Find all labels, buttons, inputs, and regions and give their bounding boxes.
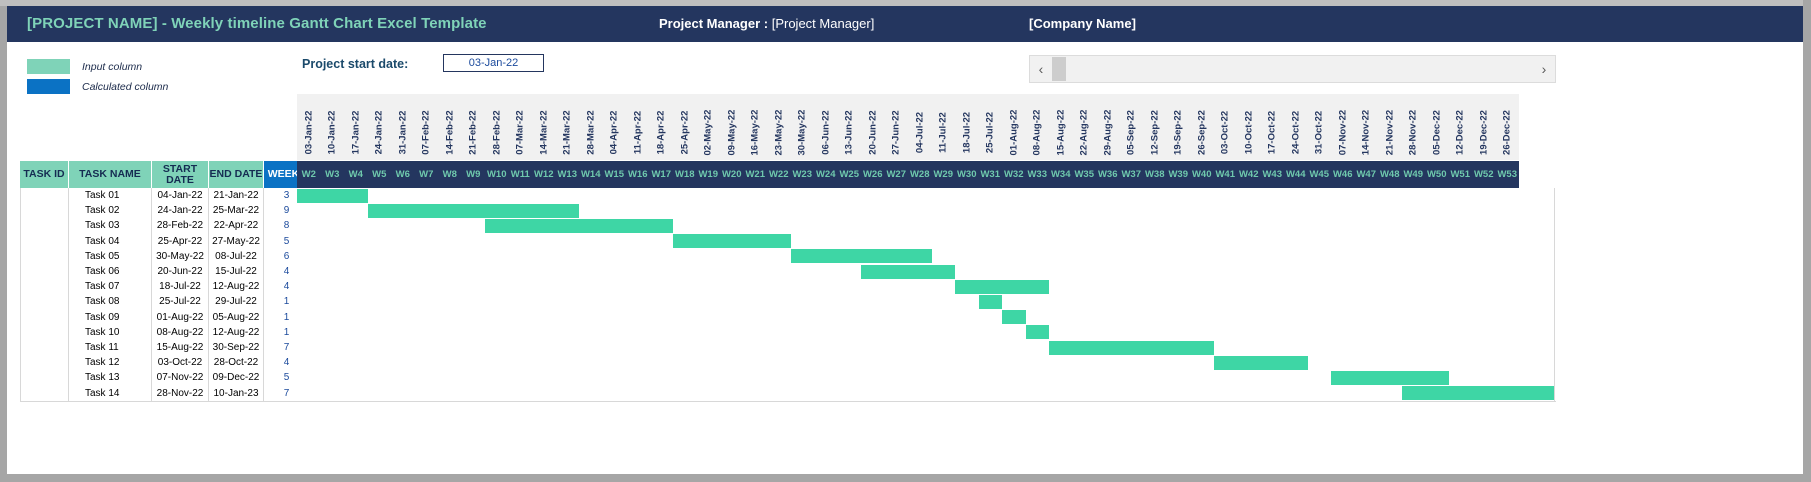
sheet-bottom-strip — [7, 449, 1803, 474]
cell-start-date[interactable]: 04-Jan-22 — [152, 188, 209, 203]
cell-end-date[interactable]: 22-Apr-22 — [209, 218, 264, 233]
scroll-right-icon[interactable]: › — [1533, 56, 1555, 82]
timeline-date-label: 28-Feb-22 — [491, 109, 502, 157]
timeline-week-header-cell[interactable]: W2 — [297, 161, 321, 188]
cell-task-name[interactable]: Task 06 — [69, 264, 152, 279]
timeline-week-header-cell[interactable]: W6 — [391, 161, 415, 188]
timeline-date-cell: 18-Jul-22 — [955, 94, 979, 160]
window-frame-right — [1803, 0, 1811, 482]
table-row[interactable]: Task 1307-Nov-2209-Dec-225 — [20, 370, 310, 385]
timeline-week-header-cell[interactable]: W14 — [579, 161, 603, 188]
timeline-week-header-cell[interactable]: W8 — [438, 161, 462, 188]
timeline-date-label: 07-Feb-22 — [421, 109, 432, 157]
timeline-date-label: 04-Apr-22 — [609, 109, 620, 157]
timeline-week-header-cell[interactable]: W30 — [955, 161, 979, 188]
timeline-week-header-cell[interactable]: W33 — [1026, 161, 1050, 188]
cell-task-name[interactable]: Task 12 — [69, 355, 152, 370]
timeline-date-cell: 24-Oct-22 — [1284, 94, 1308, 160]
gantt-bar — [1214, 356, 1308, 370]
timeline-date-label: 15-Aug-22 — [1055, 109, 1066, 157]
timeline-date-label: 05-Sep-22 — [1126, 109, 1137, 157]
timeline-date-cell: 27-Jun-22 — [885, 94, 909, 160]
timeline-date-cell: 06-Jun-22 — [814, 94, 838, 160]
cell-task-name[interactable]: Task 08 — [69, 294, 152, 309]
timeline-date-cell: 24-Jan-22 — [368, 94, 392, 160]
window-frame-left — [0, 0, 7, 482]
timeline-date-cell: 16-May-22 — [744, 94, 768, 160]
table-row[interactable]: Task 0825-Jul-2229-Jul-221 — [20, 294, 310, 309]
legend: Input column Calculated column — [27, 58, 168, 98]
timeline-date-label: 14-Nov-22 — [1361, 109, 1372, 157]
cell-task-name[interactable]: Task 09 — [69, 310, 152, 325]
gantt-bar — [297, 189, 368, 203]
timeline-date-cell: 03-Jan-22 — [297, 94, 321, 160]
timeline-date-cell: 14-Feb-22 — [438, 94, 462, 160]
timeline-date-cell: 17-Jan-22 — [344, 94, 368, 160]
legend-label-calculated: Calculated column — [82, 81, 168, 93]
cell-task-name[interactable]: Task 03 — [69, 218, 152, 233]
timeline-date-cell: 19-Dec-22 — [1472, 94, 1496, 160]
timeline-date-label: 23-May-22 — [773, 109, 784, 157]
cell-task-id[interactable] — [20, 370, 69, 385]
timeline-week-header-cell[interactable]: W39 — [1167, 161, 1191, 188]
timeline-date-label: 07-Mar-22 — [515, 109, 526, 157]
timeline-date-cell: 05-Sep-22 — [1120, 94, 1144, 160]
gantt-chart-app: [PROJECT NAME] - Weekly timeline Gantt C… — [0, 0, 1811, 482]
timeline-date-cell: 21-Feb-22 — [462, 94, 486, 160]
cell-end-date[interactable]: 12-Aug-22 — [209, 279, 264, 294]
timeline-date-cell: 23-May-22 — [767, 94, 791, 160]
timeline-date-cell: 04-Apr-22 — [603, 94, 627, 160]
cell-task-id[interactable] — [20, 203, 69, 218]
cell-task-name[interactable]: Task 11 — [69, 340, 152, 355]
timeline-date-cell: 14-Mar-22 — [532, 94, 556, 160]
gantt-bar — [955, 280, 1049, 294]
cell-end-date[interactable]: 15-Jul-22 — [209, 264, 264, 279]
timeline-date-label: 14-Mar-22 — [538, 109, 549, 157]
cell-start-date[interactable]: 20-Jun-22 — [152, 264, 209, 279]
cell-start-date[interactable]: 25-Apr-22 — [152, 234, 209, 249]
cell-task-id[interactable] — [20, 218, 69, 233]
timeline-date-label: 21-Feb-22 — [468, 109, 479, 157]
timeline-scrollbar[interactable]: ‹ › — [1029, 55, 1556, 83]
timeline-week-header-cell[interactable]: W22 — [767, 161, 791, 188]
timeline-week-header-cell[interactable]: W15 — [603, 161, 627, 188]
timeline-week-header-cell[interactable]: W42 — [1237, 161, 1261, 188]
timeline-week-header-cell[interactable]: W18 — [673, 161, 697, 188]
timeline-date-label: 03-Jan-22 — [303, 109, 314, 157]
cell-end-date[interactable]: 12-Aug-22 — [209, 325, 264, 340]
timeline-date-cell: 07-Mar-22 — [509, 94, 533, 160]
cell-start-date[interactable]: 15-Aug-22 — [152, 340, 209, 355]
timeline-date-label: 07-Nov-22 — [1337, 109, 1348, 157]
timeline-date-cell: 11-Jul-22 — [932, 94, 956, 160]
cell-task-id[interactable] — [20, 264, 69, 279]
cell-end-date[interactable]: 25-Mar-22 — [209, 203, 264, 218]
timeline-week-header-cell[interactable]: W28 — [908, 161, 932, 188]
timeline-date-label: 19-Sep-22 — [1173, 109, 1184, 157]
cell-end-date[interactable]: 21-Jan-22 — [209, 188, 264, 203]
company-name[interactable]: [Company Name] — [1029, 16, 1136, 31]
timeline-date-cell: 04-Jul-22 — [908, 94, 932, 160]
cell-task-id[interactable] — [20, 310, 69, 325]
timeline-date-label: 13-Jun-22 — [844, 109, 855, 157]
timeline-date-cell: 28-Feb-22 — [485, 94, 509, 160]
legend-label-input: Input column — [82, 61, 142, 73]
timeline-date-cell: 21-Mar-22 — [556, 94, 580, 160]
timeline-week-header-cell[interactable]: W37 — [1120, 161, 1144, 188]
timeline-date-label: 16-May-22 — [750, 109, 761, 157]
timeline-date-cell: 25-Apr-22 — [673, 94, 697, 160]
gantt-bar — [1402, 386, 1556, 400]
timeline-week-header-cell[interactable]: W19 — [697, 161, 721, 188]
timeline-date-label: 31-Oct-22 — [1314, 109, 1325, 157]
table-row[interactable]: Task 1008-Aug-2212-Aug-221 — [20, 325, 310, 340]
timeline-date-label: 29-Aug-22 — [1102, 109, 1113, 157]
cell-end-date[interactable]: 30-Sep-22 — [209, 340, 264, 355]
gantt-bar — [485, 219, 673, 233]
cell-start-date[interactable]: 28-Feb-22 — [152, 218, 209, 233]
timeline-date-cell: 28-Nov-22 — [1402, 94, 1426, 160]
timeline-date-label: 02-May-22 — [703, 109, 714, 157]
cell-task-name[interactable]: Task 14 — [69, 385, 152, 400]
timeline-date-label: 24-Oct-22 — [1290, 109, 1301, 157]
timeline-date-cell: 11-Apr-22 — [626, 94, 650, 160]
column-header-end-date[interactable]: END DATE — [209, 161, 264, 188]
gantt-bar — [1026, 325, 1050, 339]
timeline-date-label: 21-Mar-22 — [562, 109, 573, 157]
timeline-date-cell: 31-Jan-22 — [391, 94, 415, 160]
timeline-date-cell: 29-Aug-22 — [1096, 94, 1120, 160]
timeline-date-label: 12-Sep-22 — [1149, 109, 1160, 157]
timeline-week-header-cell[interactable]: W41 — [1214, 161, 1238, 188]
project-start-date-label: Project start date: — [302, 57, 408, 71]
timeline-date-cell: 02-May-22 — [697, 94, 721, 160]
timeline-date-label: 20-Jun-22 — [867, 109, 878, 157]
timeline-date-label: 28-Mar-22 — [585, 109, 596, 157]
timeline-date-label: 27-Jun-22 — [891, 109, 902, 157]
cell-task-id[interactable] — [20, 234, 69, 249]
timeline-week-header-cell[interactable]: W29 — [932, 161, 956, 188]
table-row[interactable]: Task 0901-Aug-2205-Aug-221 — [20, 310, 310, 325]
timeline-date-label: 12-Dec-22 — [1455, 109, 1466, 157]
cell-task-id[interactable] — [20, 279, 69, 294]
timeline-date-cell: 13-Jun-22 — [838, 94, 862, 160]
timeline-week-header-cell[interactable]: W20 — [720, 161, 744, 188]
cell-start-date[interactable]: 28-Nov-22 — [152, 385, 209, 400]
cell-end-date[interactable]: 28-Oct-22 — [209, 355, 264, 370]
title-bar: [PROJECT NAME] - Weekly timeline Gantt C… — [7, 6, 1803, 42]
cell-start-date[interactable]: 25-Jul-22 — [152, 294, 209, 309]
timeline-date-cell: 12-Sep-22 — [1143, 94, 1167, 160]
timeline-date-cell: 07-Nov-22 — [1331, 94, 1355, 160]
project-manager-label: Project Manager : — [659, 16, 768, 31]
gantt-bar — [368, 204, 580, 218]
cell-start-date[interactable]: 07-Nov-22 — [152, 370, 209, 385]
timeline-date-cell: 28-Mar-22 — [579, 94, 603, 160]
timeline-date-label: 19-Dec-22 — [1478, 109, 1489, 157]
timeline-week-header-cell[interactable]: W11 — [509, 161, 533, 188]
timeline-date-cell: 05-Dec-22 — [1425, 94, 1449, 160]
cell-end-date[interactable]: 09-Dec-22 — [209, 370, 264, 385]
table-bottom-border — [20, 401, 1556, 402]
cell-task-name[interactable]: Task 10 — [69, 325, 152, 340]
timeline-date-label: 30-May-22 — [797, 109, 808, 157]
cell-start-date[interactable]: 24-Jan-22 — [152, 203, 209, 218]
cell-start-date[interactable]: 03-Oct-22 — [152, 355, 209, 370]
cell-end-date[interactable]: 08-Jul-22 — [209, 249, 264, 264]
timeline-week-header-cell[interactable]: W13 — [556, 161, 580, 188]
timeline-week-header-cell[interactable]: W10 — [485, 161, 509, 188]
cell-task-id[interactable] — [20, 385, 69, 400]
timeline-date-cell: 18-Apr-22 — [650, 94, 674, 160]
timeline-date-label: 03-Oct-22 — [1220, 109, 1231, 157]
worksheet: [PROJECT NAME] - Weekly timeline Gantt C… — [7, 6, 1803, 474]
cell-task-name[interactable]: Task 13 — [69, 370, 152, 385]
column-header-task-id[interactable]: TASK ID — [20, 161, 69, 188]
gantt-bar — [791, 249, 932, 263]
timeline-date-label: 10-Jan-22 — [327, 109, 338, 157]
legend-swatch-calculated-icon — [27, 79, 70, 94]
table-row[interactable]: Task 0530-May-2208-Jul-226 — [20, 249, 310, 264]
gantt-bar — [861, 265, 955, 279]
gantt-plot-area — [297, 188, 1555, 401]
timeline-date-cell: 25-Jul-22 — [979, 94, 1003, 160]
timeline-date-cell: 20-Jun-22 — [861, 94, 885, 160]
timeline-date-cell: 12-Dec-22 — [1449, 94, 1473, 160]
timeline-week-header-cell[interactable]: W43 — [1261, 161, 1285, 188]
cell-task-name[interactable]: Task 05 — [69, 249, 152, 264]
timeline-week-header-cell[interactable]: W9 — [462, 161, 486, 188]
cell-end-date[interactable]: 29-Jul-22 — [209, 294, 264, 309]
timeline-date-label: 28-Nov-22 — [1408, 109, 1419, 157]
timeline-week-header-cell[interactable]: W25 — [838, 161, 862, 188]
table-row[interactable]: Task 0224-Jan-2225-Mar-229 — [20, 203, 310, 218]
timeline-week-header-cell[interactable]: W52 — [1472, 161, 1496, 188]
timeline-date-label: 01-Aug-22 — [1008, 109, 1019, 157]
timeline-week-header-cell[interactable]: W36 — [1096, 161, 1120, 188]
table-left-edge — [20, 188, 21, 401]
gantt-bar — [1049, 341, 1214, 355]
cell-task-id[interactable] — [20, 340, 69, 355]
gantt-bar — [979, 295, 1003, 309]
timeline-date-label: 11-Apr-22 — [632, 109, 643, 157]
task-table-body: Task 0104-Jan-2221-Jan-223Task 0224-Jan-… — [20, 188, 310, 401]
timeline-week-header-cell[interactable]: W27 — [885, 161, 909, 188]
column-header-start-date[interactable]: START DATE — [152, 161, 209, 188]
timeline-week-header-cell[interactable]: W5 — [368, 161, 392, 188]
timeline-date-cell: 07-Feb-22 — [415, 94, 439, 160]
timeline-week-header-cell[interactable]: W7 — [415, 161, 439, 188]
table-row[interactable]: Task 1115-Aug-2230-Sep-227 — [20, 340, 310, 355]
cell-start-date[interactable]: 18-Jul-22 — [152, 279, 209, 294]
timeline-date-cell: 30-May-22 — [791, 94, 815, 160]
cell-task-name[interactable]: Task 07 — [69, 279, 152, 294]
cell-start-date[interactable]: 01-Aug-22 — [152, 310, 209, 325]
timeline-week-header-cell[interactable]: W48 — [1378, 161, 1402, 188]
timeline-week-header-cell[interactable]: W40 — [1190, 161, 1214, 188]
timeline-week-header-cell[interactable]: W4 — [344, 161, 368, 188]
timeline-date-cell: 15-Aug-22 — [1049, 94, 1073, 160]
timeline-week-header-cell[interactable]: W51 — [1449, 161, 1473, 188]
gantt-bar — [673, 234, 791, 248]
cell-task-id[interactable] — [20, 188, 69, 203]
timeline-date-label: 31-Jan-22 — [397, 109, 408, 157]
legend-item-calculated: Calculated column — [27, 78, 168, 95]
gantt-bar — [1002, 310, 1026, 324]
cell-task-id[interactable] — [20, 249, 69, 264]
cell-end-date[interactable]: 05-Aug-22 — [209, 310, 264, 325]
timeline-date-label: 26-Sep-22 — [1196, 109, 1207, 157]
column-header-task-name[interactable]: TASK NAME — [69, 161, 152, 188]
cell-task-id[interactable] — [20, 294, 69, 309]
window-frame-bottom — [0, 474, 1811, 482]
legend-item-input: Input column — [27, 58, 168, 75]
timeline-week-header-cell[interactable]: W16 — [626, 161, 650, 188]
timeline-date-label: 17-Oct-22 — [1267, 109, 1278, 157]
timeline-week-header-cell[interactable]: W38 — [1143, 161, 1167, 188]
table-row[interactable]: Task 0718-Jul-2212-Aug-224 — [20, 279, 310, 294]
timeline-date-cell: 10-Jan-22 — [321, 94, 345, 160]
timeline-date-label: 21-Nov-22 — [1384, 109, 1395, 157]
scrollbar-track[interactable] — [1052, 56, 1533, 82]
timeline-date-label: 09-May-22 — [726, 109, 737, 157]
cell-task-name[interactable]: Task 04 — [69, 234, 152, 249]
timeline-date-cell: 14-Nov-22 — [1355, 94, 1379, 160]
legend-swatch-input-icon — [27, 59, 70, 74]
timeline-week-header-cell[interactable]: W24 — [814, 161, 838, 188]
timeline-week-header-cell[interactable]: W46 — [1331, 161, 1355, 188]
timeline-date-label: 25-Apr-22 — [679, 109, 690, 157]
timeline-date-cell: 31-Oct-22 — [1308, 94, 1332, 160]
timeline-week-header-cell[interactable]: W12 — [532, 161, 556, 188]
timeline-week-header-cell[interactable]: W49 — [1402, 161, 1426, 188]
timeline-date-cell: 21-Nov-22 — [1378, 94, 1402, 160]
timeline-date-cell: 01-Aug-22 — [1002, 94, 1026, 160]
cell-end-date[interactable]: 27-May-22 — [209, 234, 264, 249]
timeline-week-header-cell[interactable]: W17 — [650, 161, 674, 188]
timeline-week-header-cell[interactable]: W3 — [321, 161, 345, 188]
timeline-date-label: 18-Jul-22 — [961, 109, 972, 157]
cell-task-name[interactable]: Task 02 — [69, 203, 152, 218]
timeline-date-label: 10-Oct-22 — [1243, 109, 1254, 157]
timeline-date-label: 24-Jan-22 — [374, 109, 385, 157]
timeline-date-label: 26-Dec-22 — [1502, 109, 1513, 157]
timeline-date-label: 17-Jan-22 — [350, 109, 361, 157]
timeline-date-cell: 08-Aug-22 — [1026, 94, 1050, 160]
cell-start-date[interactable]: 08-Aug-22 — [152, 325, 209, 340]
timeline-week-header: W2W3W4W5W6W7W8W9W10W11W12W13W14W15W16W17… — [297, 161, 1519, 188]
gantt-bar — [1331, 371, 1449, 385]
table-row[interactable]: Task 1428-Nov-2210-Jan-237 — [20, 385, 310, 400]
table-row[interactable]: Task 0425-Apr-2227-May-225 — [20, 234, 310, 249]
project-start-date-input[interactable]: 03-Jan-22 — [443, 54, 544, 72]
scrollbar-thumb[interactable] — [1052, 57, 1066, 81]
timeline-week-header-cell[interactable]: W35 — [1073, 161, 1097, 188]
cell-end-date[interactable]: 10-Jan-23 — [209, 385, 264, 400]
table-row[interactable]: Task 0328-Feb-2222-Apr-228 — [20, 218, 310, 233]
timeline-date-cell: 26-Dec-22 — [1496, 94, 1520, 160]
cell-task-id[interactable] — [20, 325, 69, 340]
timeline-date-label: 04-Jul-22 — [914, 109, 925, 157]
timeline-week-header-cell[interactable]: W45 — [1308, 161, 1332, 188]
timeline-date-label: 22-Aug-22 — [1079, 109, 1090, 157]
timeline-week-header-cell[interactable]: W50 — [1425, 161, 1449, 188]
timeline-date-cell: 10-Oct-22 — [1237, 94, 1261, 160]
timeline-date-label: 08-Aug-22 — [1032, 109, 1043, 157]
table-header-row: TASK ID TASK NAME START DATE END DATE WE… — [20, 161, 310, 188]
project-manager-field: Project Manager : [Project Manager] — [659, 16, 874, 31]
timeline-week-header-cell[interactable]: W34 — [1049, 161, 1073, 188]
timeline-date-label: 06-Jun-22 — [820, 109, 831, 157]
project-manager-value[interactable]: [Project Manager] — [772, 16, 875, 31]
table-row[interactable]: Task 1203-Oct-2228-Oct-224 — [20, 355, 310, 370]
timeline-week-header-cell[interactable]: W47 — [1355, 161, 1379, 188]
table-row[interactable]: Task 0620-Jun-2215-Jul-224 — [20, 264, 310, 279]
timeline-week-header-cell[interactable]: W53 — [1496, 161, 1520, 188]
timeline-week-header-cell[interactable]: W31 — [979, 161, 1003, 188]
timeline-date-label: 18-Apr-22 — [656, 109, 667, 157]
timeline-date-label: 14-Feb-22 — [444, 109, 455, 157]
timeline-date-label: 25-Jul-22 — [985, 109, 996, 157]
timeline-week-header-cell[interactable]: W32 — [1002, 161, 1026, 188]
timeline-date-label: 11-Jul-22 — [938, 109, 949, 157]
timeline-week-header-cell[interactable]: W23 — [791, 161, 815, 188]
scroll-left-icon[interactable]: ‹ — [1030, 56, 1052, 82]
cell-start-date[interactable]: 30-May-22 — [152, 249, 209, 264]
timeline-week-header-cell[interactable]: W26 — [861, 161, 885, 188]
timeline-date-cell: 09-May-22 — [720, 94, 744, 160]
timeline-date-label: 05-Dec-22 — [1431, 109, 1442, 157]
page-title: [PROJECT NAME] - Weekly timeline Gantt C… — [27, 15, 487, 32]
timeline-date-cell: 17-Oct-22 — [1261, 94, 1285, 160]
timeline-date-header: 03-Jan-2210-Jan-2217-Jan-2224-Jan-2231-J… — [297, 94, 1519, 160]
timeline-date-cell: 26-Sep-22 — [1190, 94, 1214, 160]
timeline-date-cell: 22-Aug-22 — [1073, 94, 1097, 160]
timeline-date-cell: 19-Sep-22 — [1167, 94, 1191, 160]
cell-task-id[interactable] — [20, 355, 69, 370]
timeline-week-header-cell[interactable]: W44 — [1284, 161, 1308, 188]
cell-task-name[interactable]: Task 01 — [69, 188, 152, 203]
timeline-date-cell: 03-Oct-22 — [1214, 94, 1238, 160]
timeline-week-header-cell[interactable]: W21 — [744, 161, 768, 188]
table-row[interactable]: Task 0104-Jan-2221-Jan-223 — [20, 188, 310, 203]
